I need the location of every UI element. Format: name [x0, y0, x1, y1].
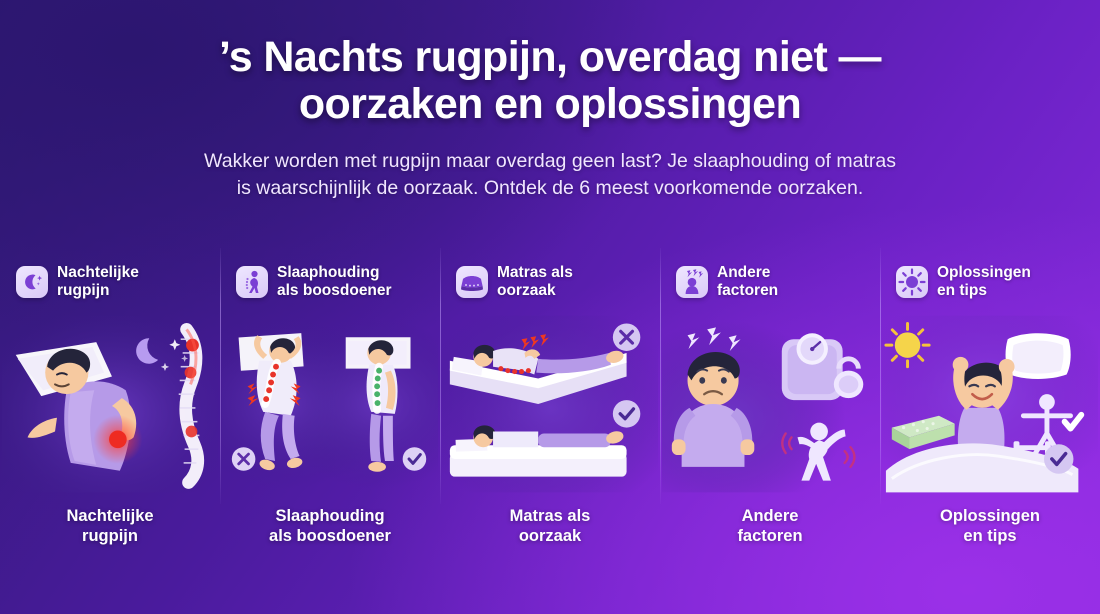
panel-header-line-2: als boosdoener — [277, 282, 392, 300]
panel-caption-line-2: en tips — [880, 526, 1100, 546]
stress-head-icon — [676, 266, 708, 298]
panel-header-label: Slaaphouding als boosdoener — [277, 264, 392, 300]
panel-header: Andere factoren — [660, 246, 880, 308]
panel-header: Slaaphouding als boosdoener — [220, 246, 440, 308]
panel-caption-line-1: Nachtelijke — [0, 506, 220, 526]
panel-header-line-2: factoren — [717, 282, 778, 300]
illustration-sagging-versus-firm-mattress — [442, 308, 658, 500]
panel-caption-line-1: Oplossingen — [880, 506, 1100, 526]
panel-header: Nachtelijke rugpijn — [0, 246, 220, 308]
panel-caption-line-1: Andere — [660, 506, 880, 526]
panel-header: Oplossingen en tips — [880, 246, 1100, 308]
page-title: ’s Nachts rugpijn, overdag niet — oorzak… — [60, 34, 1040, 129]
page-subtitle-line-1: Wakker worden met rugpijn maar overdag g… — [60, 148, 1040, 176]
panel-caption: Andere factoren — [660, 500, 880, 566]
panel-caption: Nachtelijke rugpijn — [0, 500, 220, 566]
illustration-sleep-positions-comparison — [222, 308, 438, 500]
panel-nachtelijke-rugpijn: Nachtelijke rugpijn — [0, 246, 220, 566]
panel-caption-line-1: Matras als — [440, 506, 660, 526]
panel-header-line-2: rugpijn — [57, 282, 139, 300]
panel-header-label: Matras als oorzaak — [497, 264, 573, 300]
panel-caption-line-2: als boosdoener — [220, 526, 440, 546]
panel-caption: Oplossingen en tips — [880, 500, 1100, 566]
page-subtitle-line-2: is waarschijnlijk de oorzaak. Ontdek de … — [60, 175, 1040, 203]
panel-header-line-1: Slaaphouding — [277, 264, 392, 282]
panel-caption-line-2: factoren — [660, 526, 880, 546]
illustration-man-back-pain-in-bed — [2, 308, 218, 500]
panel-slaaphouding-als-boosdoener: Slaaphouding als boosdoener — [220, 246, 440, 566]
page-title-line-1: ’s Nachts rugpijn, overdag niet — — [60, 34, 1040, 81]
panel-header-line-2: oorzaak — [497, 282, 573, 300]
sun-icon — [896, 266, 928, 298]
illustration-other-factors-stress-weight-exercise — [662, 308, 878, 500]
panel-header-line-1: Oplossingen — [937, 264, 1031, 282]
page-subtitle: Wakker worden met rugpijn maar overdag g… — [60, 148, 1040, 203]
panel-row: Nachtelijke rugpijn — [0, 246, 1100, 566]
panel-header-line-1: Andere — [717, 264, 778, 282]
panel-header: Matras als oorzaak — [440, 246, 660, 308]
panel-header-label: Andere factoren — [717, 264, 778, 300]
panel-header-line-1: Nachtelijke — [57, 264, 139, 282]
panel-oplossingen-en-tips: Oplossingen en tips — [880, 246, 1100, 566]
posture-person-icon — [236, 266, 268, 298]
mattress-icon — [456, 266, 488, 298]
panel-caption: Slaaphouding als boosdoener — [220, 500, 440, 566]
panel-andere-factoren: Andere factoren — [660, 246, 880, 566]
panel-caption-line-1: Slaaphouding — [220, 506, 440, 526]
panel-header-line-1: Matras als — [497, 264, 573, 282]
panel-caption-line-2: rugpijn — [0, 526, 220, 546]
moon-stars-icon — [16, 266, 48, 298]
illustration-refreshed-morning-solutions — [882, 308, 1098, 500]
infographic-header: ’s Nachts rugpijn, overdag niet — oorzak… — [0, 0, 1100, 203]
panel-header-label: Oplossingen en tips — [937, 264, 1031, 300]
page-title-line-2: oorzaken en oplossingen — [60, 81, 1040, 128]
panel-header-label: Nachtelijke rugpijn — [57, 264, 139, 300]
panel-header-line-2: en tips — [937, 282, 1031, 300]
panel-caption: Matras als oorzaak — [440, 500, 660, 566]
panel-caption-line-2: oorzaak — [440, 526, 660, 546]
panel-matras-als-oorzaak: Matras als oorzaak — [440, 246, 660, 566]
